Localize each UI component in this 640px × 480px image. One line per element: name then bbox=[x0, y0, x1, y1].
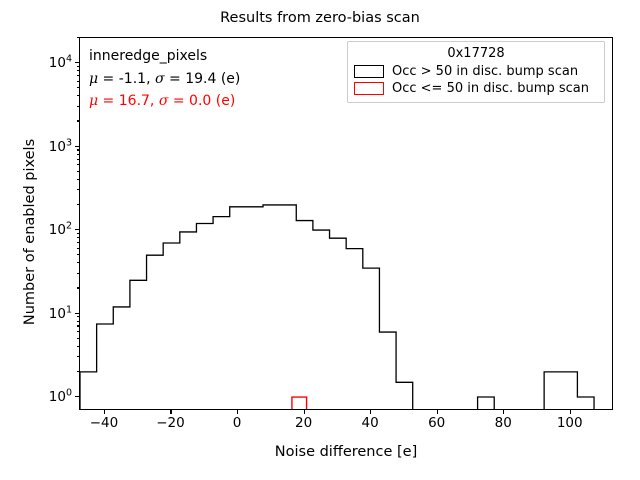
y-tick-label: 101 bbox=[49, 304, 72, 322]
figure-canvas: Results from zero-bias scan Number of en… bbox=[0, 0, 640, 480]
stat-mu-black: -1.1 bbox=[119, 71, 146, 87]
y-axis-tick-mark bbox=[77, 325, 80, 326]
legend-item-red[interactable]: Occ <= 50 in disc. bump scan bbox=[354, 80, 598, 97]
x-axis-tick-mark bbox=[304, 410, 305, 414]
y-axis-tick-mark bbox=[77, 254, 80, 255]
y-axis-tick-mark bbox=[75, 62, 79, 63]
y-tick-label: 103 bbox=[49, 137, 72, 155]
x-axis-tick-mark bbox=[570, 410, 571, 414]
y-axis-tick-mark bbox=[77, 248, 80, 249]
histogram-outline-red bbox=[292, 397, 307, 410]
y-tick-label: 104 bbox=[49, 53, 72, 71]
y-axis-tick-mark bbox=[77, 159, 80, 160]
y-axis-tick-mark bbox=[77, 120, 80, 121]
y-axis-tick-mark bbox=[77, 204, 80, 205]
y-axis-tick-mark bbox=[77, 70, 80, 71]
histogram-outline-black bbox=[80, 205, 594, 410]
stat-unit-red: (e) bbox=[216, 93, 236, 109]
y-axis-tick-mark bbox=[77, 164, 80, 165]
stat-sigma-red: 0.0 bbox=[189, 93, 211, 109]
legend-label-black: Occ > 50 in disc. bump scan bbox=[392, 64, 578, 79]
y-axis-tick-labels: 100101102103104 bbox=[0, 0, 72, 480]
y-axis-tick-mark bbox=[77, 316, 80, 317]
legend: 0x17728 Occ > 50 in disc. bump scan Occ … bbox=[347, 41, 605, 103]
y-axis-tick-mark bbox=[77, 149, 80, 150]
y-axis-tick-mark bbox=[75, 313, 79, 314]
x-tick-label: 0 bbox=[233, 415, 242, 431]
y-tick-label: 102 bbox=[49, 220, 72, 238]
y-axis-tick-mark bbox=[77, 171, 80, 172]
y-axis-tick-mark bbox=[77, 321, 80, 322]
x-axis-label: Noise difference [e] bbox=[79, 444, 613, 460]
stat-mu-red: 16.7 bbox=[119, 93, 150, 109]
y-axis-tick-mark bbox=[75, 146, 79, 147]
x-tick-label: 80 bbox=[495, 415, 512, 431]
annotation-block: inneredge_pixels μ = -1.1, σ = 19.4 (e) … bbox=[89, 45, 240, 113]
x-tick-label: −40 bbox=[90, 415, 119, 431]
y-axis-tick-mark bbox=[77, 87, 80, 88]
y-axis-tick-mark bbox=[77, 331, 80, 332]
y-axis-tick-mark bbox=[77, 95, 80, 96]
y-tick-label: 100 bbox=[49, 387, 72, 405]
y-axis-tick-mark bbox=[77, 371, 80, 372]
x-axis-tick-mark bbox=[503, 410, 504, 414]
x-tick-label: 20 bbox=[295, 415, 312, 431]
histogram-series-red bbox=[292, 397, 307, 410]
legend-item-black[interactable]: Occ > 50 in disc. bump scan bbox=[354, 63, 598, 80]
histogram-series-black bbox=[80, 205, 594, 410]
y-axis-tick-mark bbox=[77, 262, 80, 263]
y-axis-tick-mark bbox=[77, 106, 80, 107]
x-axis-tick-mark bbox=[170, 410, 171, 414]
legend-swatch-icon-black bbox=[354, 65, 384, 78]
y-axis-tick-mark bbox=[77, 66, 80, 67]
annotation-stats-black: μ = -1.1, σ = 19.4 (e) bbox=[89, 68, 240, 91]
y-axis-tick-mark bbox=[77, 287, 80, 288]
y-axis-tick-mark bbox=[77, 189, 80, 190]
x-tick-label: 60 bbox=[428, 415, 445, 431]
page-title: Results from zero-bias scan bbox=[0, 10, 640, 26]
y-axis-tick-mark bbox=[77, 273, 80, 274]
annotation-dataset-name: inneredge_pixels bbox=[89, 45, 240, 68]
annotation-stats-red: μ = 16.7, σ = 0.0 (e) bbox=[89, 90, 240, 113]
x-axis-tick-mark bbox=[237, 410, 238, 414]
x-axis-tick-mark bbox=[104, 410, 105, 414]
x-axis-tick-mark bbox=[370, 410, 371, 414]
y-axis-tick-mark bbox=[77, 237, 80, 238]
legend-swatch-icon-red bbox=[354, 82, 384, 95]
y-axis-tick-mark bbox=[77, 346, 80, 347]
x-axis-tick-mark bbox=[437, 410, 438, 414]
y-axis-tick-mark bbox=[77, 75, 80, 76]
y-axis-tick-mark bbox=[75, 396, 79, 397]
y-axis-tick-mark bbox=[77, 338, 80, 339]
x-tick-label: 100 bbox=[557, 415, 583, 431]
y-axis-tick-mark bbox=[77, 81, 80, 82]
y-axis-tick-mark bbox=[77, 179, 80, 180]
x-tick-label: −20 bbox=[156, 415, 185, 431]
x-tick-label: 40 bbox=[362, 415, 379, 431]
stat-sigma-black: 19.4 bbox=[185, 71, 216, 87]
y-axis-tick-mark bbox=[77, 242, 80, 243]
y-axis-tick-mark bbox=[75, 229, 79, 230]
y-axis-tick-mark bbox=[77, 356, 80, 357]
y-axis-tick-mark bbox=[77, 233, 80, 234]
legend-title: 0x17728 bbox=[354, 46, 598, 63]
y-axis-tick-mark bbox=[77, 154, 80, 155]
y-axis-tick-mark bbox=[77, 37, 80, 38]
legend-label-red: Occ <= 50 in disc. bump scan bbox=[392, 81, 589, 96]
stat-unit-black: (e) bbox=[221, 71, 241, 87]
